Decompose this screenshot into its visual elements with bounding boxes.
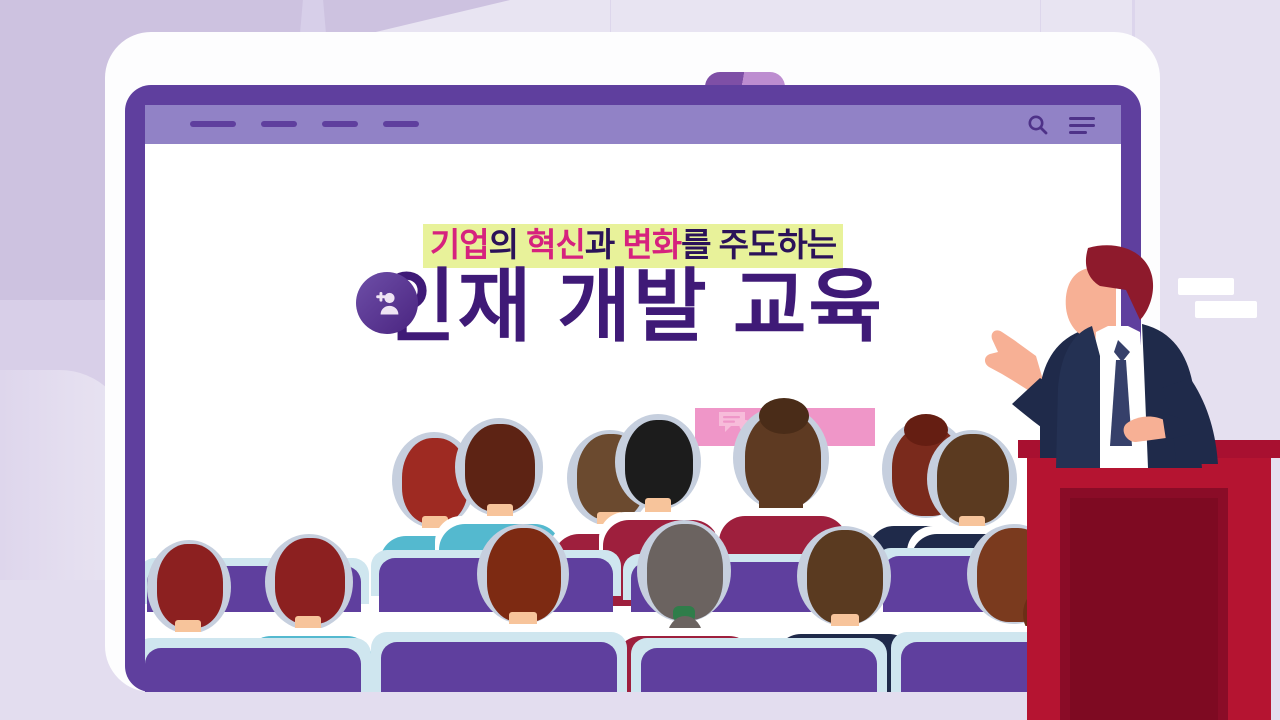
browser-tab-dashes — [190, 121, 419, 127]
tab-dash-3[interactable] — [322, 121, 358, 127]
tab-dash-1[interactable] — [190, 121, 236, 127]
subtitle-seg-1: 기업 — [430, 226, 489, 263]
slide-stage: 기업의 혁신과 변화를 주도하는 인재 개발 교육 — [0, 0, 1280, 720]
subtitle-seg-6: 를 주도하는 — [681, 226, 836, 263]
slide-title-wrapper: 인재 개발 교육 — [382, 266, 884, 348]
presenter-figure — [940, 228, 1280, 568]
subtitle-seg-4: 과 — [585, 226, 623, 263]
subtitle-seg-3: 혁신 — [526, 226, 585, 263]
seat-row-front-3 — [641, 648, 877, 692]
tab-dash-2[interactable] — [261, 121, 297, 127]
search-icon[interactable] — [1025, 112, 1051, 138]
slide-title: 인재 개발 교육 — [382, 262, 884, 351]
seat-row-front-2 — [381, 642, 617, 692]
add-person-icon — [356, 272, 418, 334]
subtitle-seg-5: 변화 — [622, 226, 681, 263]
subtitle-seg-2: 의 — [489, 226, 527, 263]
browser-toolbar — [145, 105, 1121, 144]
seat-row-front-1 — [145, 648, 361, 692]
hamburger-menu-icon[interactable] — [1069, 112, 1095, 138]
browser-actions — [1025, 112, 1095, 138]
tab-dash-4[interactable] — [383, 121, 419, 127]
